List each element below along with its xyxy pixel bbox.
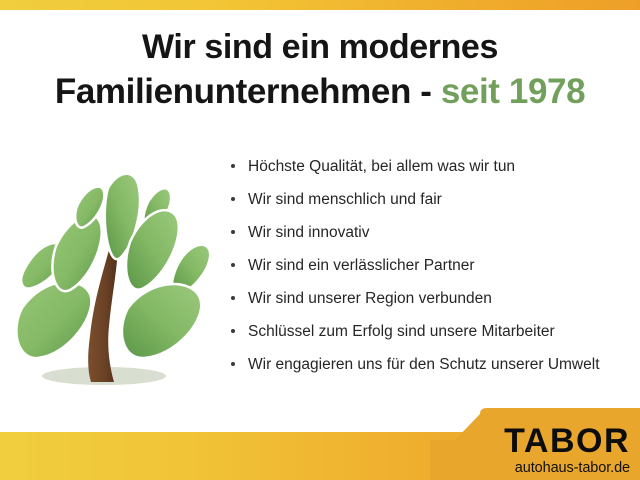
bullet-dot-icon bbox=[231, 164, 235, 168]
bullet-dot-icon bbox=[231, 263, 235, 267]
headline-accent-year: seit 1978 bbox=[441, 72, 585, 111]
bullet-dot-icon bbox=[231, 230, 235, 234]
list-item: Wir sind innovativ bbox=[228, 216, 640, 249]
list-item-label: Wir sind innovativ bbox=[248, 224, 369, 241]
brand-url[interactable]: autohaus-tabor.de bbox=[460, 458, 630, 478]
tree-leaf bbox=[122, 284, 201, 358]
list-item-label: Wir sind unserer Region verbunden bbox=[248, 290, 492, 307]
list-item: Wir sind ein verlässlicher Partner bbox=[228, 249, 640, 282]
list-item: Schlüssel zum Erfolg sind unsere Mitarbe… bbox=[228, 315, 640, 348]
top-accent-bar bbox=[0, 0, 640, 10]
list-item: Höchste Qualität, bei allem was wir tun bbox=[228, 150, 640, 183]
tree-leaf bbox=[16, 282, 91, 358]
list-item-label: Schlüssel zum Erfolg sind unsere Mitarbe… bbox=[248, 323, 555, 340]
list-item: Wir sind menschlich und fair bbox=[228, 183, 640, 216]
list-item: Wir sind unserer Region verbunden bbox=[228, 282, 640, 315]
list-item-label: Wir sind menschlich und fair bbox=[248, 191, 442, 208]
headline-line-2: Familienunternehmen - seit 1978 bbox=[0, 70, 640, 115]
bullet-dot-icon bbox=[231, 362, 235, 366]
bullet-dot-icon bbox=[231, 329, 235, 333]
list-item-label: Höchste Qualität, bei allem was wir tun bbox=[248, 158, 515, 175]
tree-illustration bbox=[8, 158, 218, 396]
values-list: Höchste Qualität, bei allem was wir tun … bbox=[228, 150, 640, 381]
logo-text-wrap: TABOR autohaus-tabor.de bbox=[460, 424, 630, 478]
headline-line-2-main: Familienunternehmen - bbox=[55, 72, 441, 111]
bullet-dot-icon bbox=[231, 197, 235, 201]
bullet-dot-icon bbox=[231, 296, 235, 300]
list-item: Wir engagieren uns für den Schutz unsere… bbox=[228, 348, 640, 381]
brand-logo-block[interactable]: TABOR autohaus-tabor.de bbox=[430, 400, 640, 480]
headline-line-1: Wir sind ein modernes bbox=[0, 26, 640, 70]
slide-canvas: Wir sind ein modernes Familienunternehme… bbox=[0, 0, 640, 480]
page-title: Wir sind ein modernes Familienunternehme… bbox=[0, 26, 640, 114]
list-item-label: Wir sind ein verlässlicher Partner bbox=[248, 257, 475, 274]
list-item-label: Wir engagieren uns für den Schutz unsere… bbox=[248, 356, 600, 373]
brand-wordmark: TABOR bbox=[460, 424, 630, 458]
